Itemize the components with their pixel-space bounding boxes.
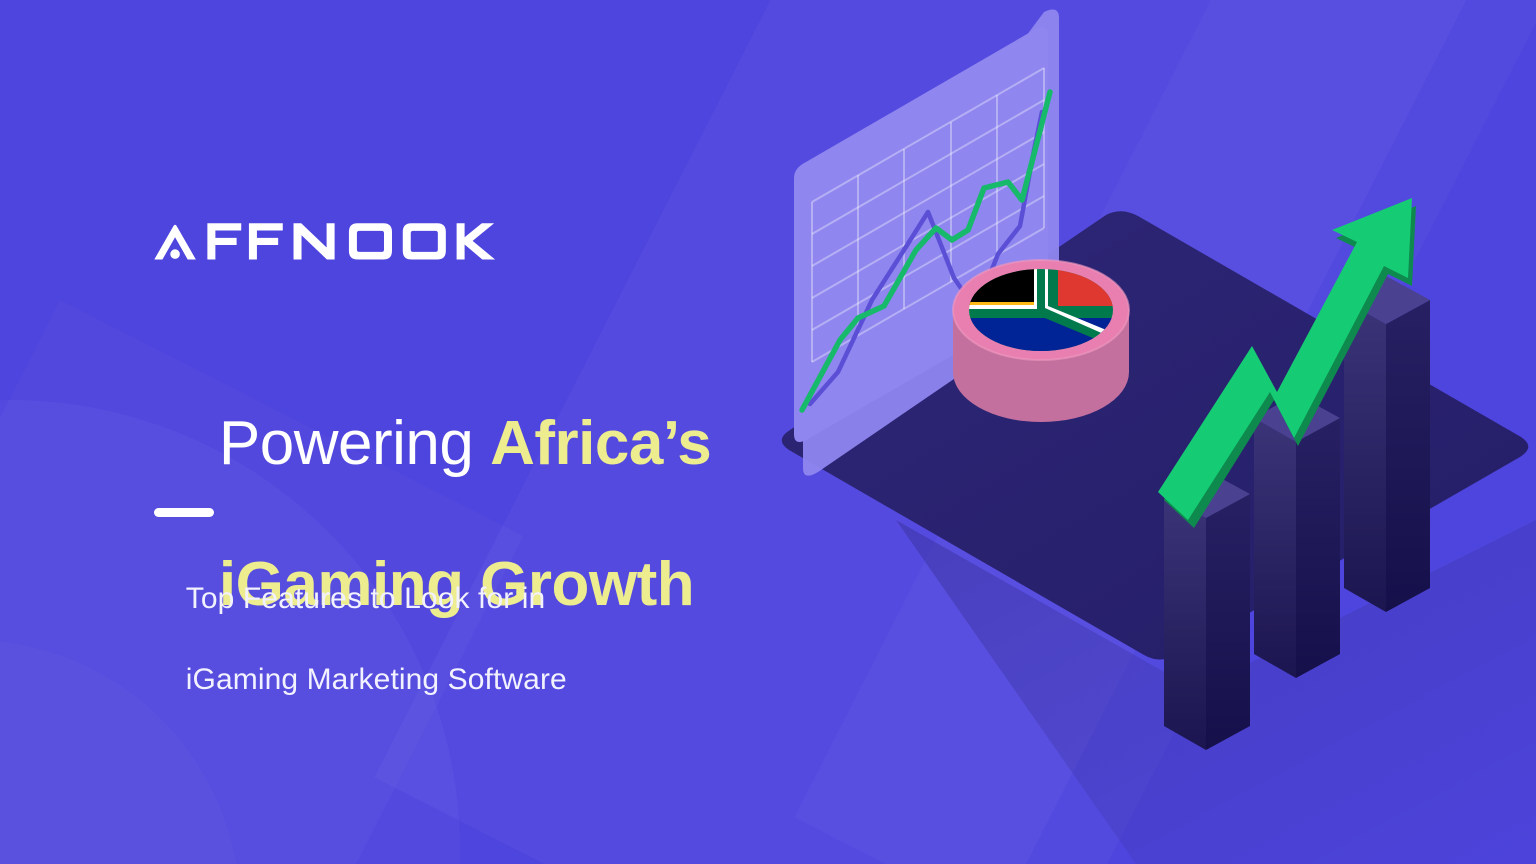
south-africa-flag-pie-chart[interactable] xyxy=(953,260,1129,422)
headline-segment-africas: Africa’s xyxy=(490,409,711,478)
isometric-analytics-illustration xyxy=(776,0,1536,864)
hero-subtitle: Top Features to Look for in iGaming Mark… xyxy=(152,538,567,742)
affnook-logo[interactable] xyxy=(152,221,564,261)
headline-divider xyxy=(154,508,214,517)
hero-text-column: Powering Africa’s iGaming Growth Top Fea… xyxy=(152,0,852,864)
subtitle-line-1: Top Features to Look for in xyxy=(186,582,546,615)
logo-wordmark-glyphs xyxy=(154,223,495,259)
headline-segment-powering: Powering xyxy=(219,409,490,478)
subtitle-line-2: iGaming Marketing Software xyxy=(186,663,567,696)
